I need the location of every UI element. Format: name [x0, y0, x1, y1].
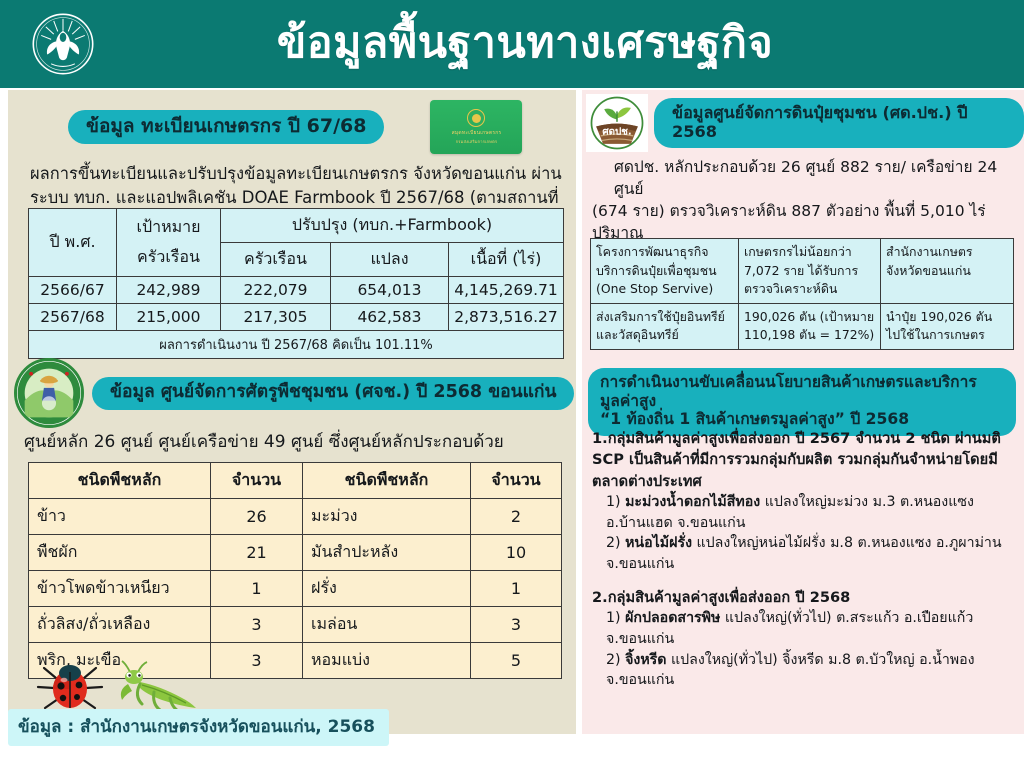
table-header-row: ชนิดพืชหลัก จำนวน ชนิดพืชหลัก จำนวน [29, 463, 562, 499]
list-item: 2) จิ้งหรีด แปลงใหญ่(ทั่วไป) จิ้งหรีด ม.… [592, 650, 1016, 691]
left-panel: ข้อมูล ทะเบียนเกษตรกร ปี 67/68 สมุดทะเบี… [8, 90, 576, 762]
book-seal-icon [467, 109, 485, 127]
cell-count-left: 1 [211, 571, 303, 607]
cell-count-left: 21 [211, 535, 303, 571]
crop-type-table: ชนิดพืชหลัก จำนวน ชนิดพืชหลัก จำนวน ข้าว… [28, 462, 562, 679]
item-name: มะม่วงน้ำดอกไม้สีทอง [625, 494, 760, 510]
col-target-line2: ครัวเรือน [117, 243, 221, 277]
soil-center-title-pill: ข้อมูลศูนย์จัดการดินปุ๋ยชุมชน (ศด.ปช.) ป… [654, 98, 1024, 149]
cell-target: 215,000 [117, 304, 221, 331]
cell-plot: 462,583 [331, 304, 449, 331]
registration-table: ปี พ.ศ. เป้าหมาย ปรับปรุง (ทบก.+Farmbook… [28, 208, 564, 359]
col-crop-left: ชนิดพืชหลัก [29, 463, 211, 499]
cell-area: 4,145,269.71 [449, 277, 564, 304]
soil-center-table: โครงการพัฒนาธุรกิจ บริการดินปุ๋ยเพื่อชุม… [590, 238, 1014, 350]
table-row: ข้าวโพดข้าวเหนียว 1 ฝรั่ง 1 [29, 571, 562, 607]
community-soil-fertilizer-center-logo-icon: ศดปช. [586, 94, 648, 152]
cell-crop-right: ฝรั่ง [303, 571, 471, 607]
cell-count-left: 26 [211, 499, 303, 535]
cell-count-left: 3 [211, 607, 303, 643]
farmer-registration-book-icon: สมุดทะเบียนเกษตรกร กรมส่งเสริมการเกษตร [430, 100, 522, 154]
col-group-update: ปรับปรุง (ทบก.+Farmbook) [221, 209, 564, 243]
high-value-body: 1.กลุ่มสินค้ามูลค่าสูงเพื่อส่งออก ปี 256… [592, 428, 1016, 691]
table-header-row: ปี พ.ศ. เป้าหมาย ปรับปรุง (ทบก.+Farmbook… [29, 209, 564, 243]
cell-crop-left: ข้าว [29, 499, 211, 535]
cell-count-right: 10 [471, 535, 562, 571]
list-spacer [592, 575, 1016, 587]
high-value-title-pill: การดำเนินงานขับเคลื่อนนโยบายสินค้าเกษตรแ… [588, 368, 1016, 436]
high-value-title-line-1: การดำเนินงานขับเคลื่อนนโยบายสินค้าเกษตรแ… [600, 373, 977, 410]
pest-center-title-pill: ข้อมูล ศูนย์จัดการศัตรูพืชชุมชน (ศจช.) ป… [92, 377, 574, 410]
cell-year: 2567/68 [29, 304, 117, 331]
col-plot: แปลง [331, 243, 449, 277]
book-line-2: กรมส่งเสริมการเกษตร [456, 138, 498, 145]
cell-year: 2566/67 [29, 277, 117, 304]
table-row: พืชผัก 21 มันสำปะหลัง 10 [29, 535, 562, 571]
table-row: 2566/67 242,989 222,079 654,013 4,145,26… [29, 277, 564, 304]
list-item: 1) มะม่วงน้ำดอกไม้สีทอง แปลงใหญ่มะม่วง ม… [592, 492, 1016, 533]
cell-crop-left: ข้าวโพดข้าวเหนียว [29, 571, 211, 607]
cell-count-right: 5 [471, 643, 562, 679]
garuda-emblem-icon [30, 10, 96, 78]
col-count-right: จำนวน [471, 463, 562, 499]
page-title: ข้อมูลพื้นฐานทางเศรษฐกิจ [96, 21, 1024, 66]
cell-result: เกษตรกรไม่น้อยกว่า 7,072 ราย ได้รับการ ต… [739, 239, 881, 304]
list-item: 1) ผักปลอดสารพิษ แปลงใหญ่(ทั่วไป) ต.สระแ… [592, 608, 1016, 649]
right-panel: ศดปช. ข้อมูลศูนย์จัดการดินปุ๋ยชุมชน (ศด.… [582, 90, 1024, 762]
col-area: เนื้อที่ (ไร่) [449, 243, 564, 277]
cell-count-right: 3 [471, 607, 562, 643]
col-target-line1: เป้าหมาย [117, 209, 221, 243]
item-number: 2) [606, 652, 621, 668]
cell-result: 190,026 ตัน (เป้าหมาย 110,198 ตัน = 172%… [739, 303, 881, 349]
decorative-insects [30, 658, 220, 716]
cell-household: 217,305 [221, 304, 331, 331]
cell-agency: นำปุ๋ย 190,026 ตัน ไปใช้ในการเกษตร [881, 303, 1014, 349]
item-number: 1) [606, 610, 621, 626]
col-year: ปี พ.ศ. [29, 209, 117, 277]
table-row: ถั่วลิสง/ถั่วเหลือง 3 เมล่อน 3 [29, 607, 562, 643]
pest-center-description: ศูนย์หลัก 26 ศูนย์ ศูนย์เครือข่าย 49 ศูน… [24, 428, 504, 455]
col-crop-right: ชนิดพืชหลัก [303, 463, 471, 499]
registration-section-header: ข้อมูล ทะเบียนเกษตรกร ปี 67/68 สมุดทะเบี… [68, 100, 522, 154]
item-name: ผักปลอดสารพิษ [625, 610, 720, 626]
cell-plot: 654,013 [331, 277, 449, 304]
cell-target: 242,989 [117, 277, 221, 304]
page-header: ข้อมูลพื้นฐานทางเศรษฐกิจ [0, 0, 1024, 88]
item-number: 1) [606, 494, 621, 510]
table-row: โครงการพัฒนาธุรกิจ บริการดินปุ๋ยเพื่อชุม… [591, 239, 1014, 304]
cell-household: 222,079 [221, 277, 331, 304]
soil-center-section-header: ศดปช. ข้อมูลศูนย์จัดการดินปุ๋ยชุมชน (ศด.… [586, 94, 1024, 152]
cell-crop-right: หอมแบ่ง [303, 643, 471, 679]
col-count-left: จำนวน [211, 463, 303, 499]
cell-count-left: 3 [211, 643, 303, 679]
cell-crop-left: ถั่วลิสง/ถั่วเหลือง [29, 607, 211, 643]
source-badge: ข้อมูล : สำนักงานเกษตรจังหวัดขอนแก่น, 25… [8, 709, 389, 746]
high-value-group2-heading: 2.กลุ่มสินค้ามูลค่าสูงเพื่อส่งออก ปี 256… [592, 587, 1016, 608]
soil-desc-line-1: ศดปช. หลักประกอบด้วย 26 ศูนย์ 882 ราย/ เ… [592, 156, 1016, 200]
praying-mantis-icon [121, 661, 196, 712]
cell-count-right: 1 [471, 571, 562, 607]
cell-area: 2,873,516.27 [449, 304, 564, 331]
ladybug-icon [38, 665, 102, 708]
cell-crop-left: พืชผัก [29, 535, 211, 571]
svg-text:ศดปช.: ศดปช. [602, 126, 631, 138]
pest-center-section-header: ข้อมูล ศูนย์จัดการศัตรูพืชชุมชน (ศจช.) ป… [14, 358, 574, 428]
book-line-1: สมุดทะเบียนเกษตรกร [452, 129, 502, 137]
cell-project: โครงการพัฒนาธุรกิจ บริการดินปุ๋ยเพื่อชุม… [591, 239, 739, 304]
cell-count-right: 2 [471, 499, 562, 535]
high-value-group1-heading: 1.กลุ่มสินค้ามูลค่าสูงเพื่อส่งออก ปี 256… [592, 428, 1016, 492]
community-pest-management-center-logo-icon [14, 358, 84, 428]
table-row: ข้าว 26 มะม่วง 2 [29, 499, 562, 535]
item-name: หน่อไม้ฝรั่ง [625, 535, 692, 551]
table-row: 2567/68 215,000 217,305 462,583 2,873,51… [29, 304, 564, 331]
item-name: จิ้งหรีด [625, 652, 666, 668]
high-value-title-line-2: “1 ท้องถิ่น 1 สินค้าเกษตรมูลค่าสูง” ปี 2… [600, 410, 909, 428]
table-row: ส่งเสริมการใช้ปุ๋ยอินทรีย์ และวัสดุอินทร… [591, 303, 1014, 349]
cell-project: ส่งเสริมการใช้ปุ๋ยอินทรีย์ และวัสดุอินทร… [591, 303, 739, 349]
registration-title-pill: ข้อมูล ทะเบียนเกษตรกร ปี 67/68 [68, 110, 384, 145]
table-footer-row: ผลการดำเนินงาน ปี 2567/68 คิดเป็น 101.11… [29, 331, 564, 359]
cell-crop-right: เมล่อน [303, 607, 471, 643]
registration-summary: ผลการดำเนินงาน ปี 2567/68 คิดเป็น 101.11… [29, 331, 564, 359]
cell-agency: สำนักงานเกษตร จังหวัดขอนแก่น [881, 239, 1014, 304]
high-value-section-header: การดำเนินงานขับเคลื่อนนโยบายสินค้าเกษตรแ… [588, 368, 1016, 436]
cell-crop-right: มะม่วง [303, 499, 471, 535]
cell-crop-right: มันสำปะหลัง [303, 535, 471, 571]
list-item: 2) หน่อไม้ฝรั่ง แปลงใหญ่หน่อไม้ฝรั่ง ม.8… [592, 533, 1016, 574]
col-household: ครัวเรือน [221, 243, 331, 277]
item-number: 2) [606, 535, 621, 551]
